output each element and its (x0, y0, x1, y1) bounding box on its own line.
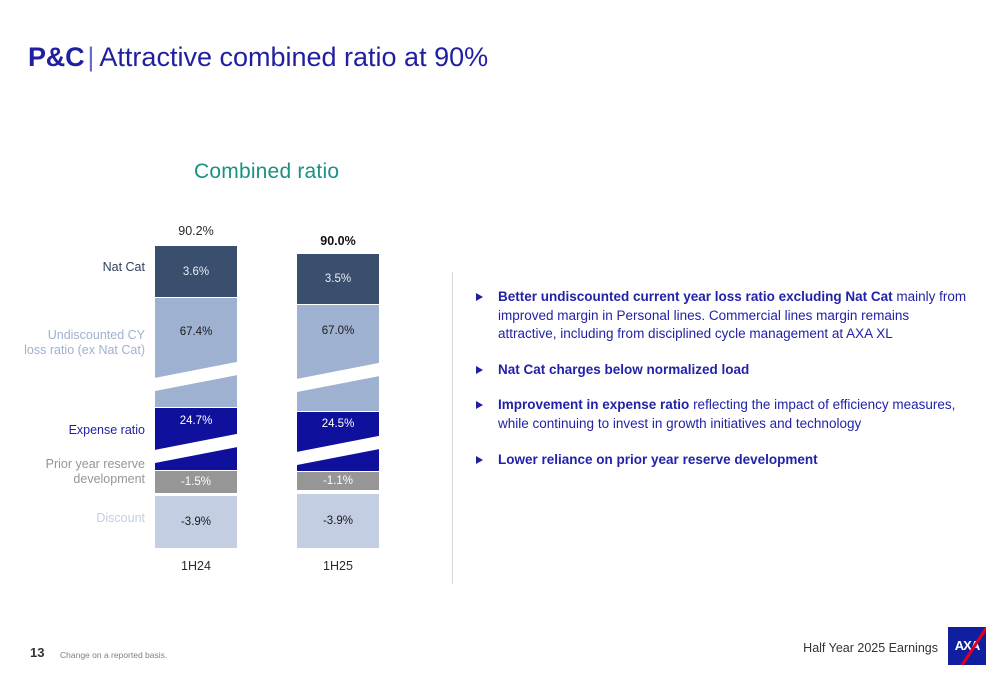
segment-undiscounted-1h25: 67.0% (297, 305, 379, 411)
bullet-bold: Lower reliance on prior year reserve dev… (498, 452, 818, 467)
segment-prior-year-1h25: -1.1% (297, 472, 379, 490)
bullet-text: Lower reliance on prior year reserve dev… (498, 451, 970, 470)
total-label-1h25: 90.0% (298, 234, 378, 248)
axis-break-slash (297, 434, 379, 466)
series-label-prior-year: Prior year reserve development (0, 457, 145, 487)
segment-nat-cat-1h24: 3.6% (155, 246, 237, 297)
category-label-1h24: 1H24 (156, 559, 236, 573)
axis-break-slash (155, 360, 237, 392)
series-label-discount: Discount (0, 511, 145, 526)
triangle-bullet-icon (476, 401, 483, 409)
bar-1h25: 3.5% 67.0% 24.5% -1.1% -3.9% (297, 254, 379, 548)
segment-discount-1h25: -3.9% (297, 494, 379, 548)
list-item: Better undiscounted current year loss ra… (470, 288, 970, 344)
axis-break-slash (297, 361, 379, 393)
series-label-undiscounted: Undiscounted CY loss ratio (ex Nat Cat) (0, 328, 145, 358)
triangle-bullet-icon (476, 456, 483, 464)
segment-expense-ratio-1h25: 24.5% (297, 412, 379, 471)
slide: P&C|Attractive combined ratio at 90% Com… (0, 0, 1000, 685)
total-label-1h24: 90.2% (156, 224, 236, 238)
triangle-bullet-icon (476, 366, 483, 374)
footnote: Change on a reported basis. (60, 650, 167, 660)
segment-undiscounted-1h24: 67.4% (155, 298, 237, 407)
segment-discount-1h24: -3.9% (155, 496, 237, 548)
axa-logo: AXA (948, 627, 986, 665)
bullet-text: Nat Cat charges below normalized load (498, 361, 970, 380)
series-label-expense-ratio: Expense ratio (0, 423, 145, 438)
bullet-list: Better undiscounted current year loss ra… (470, 288, 970, 483)
bullet-text: Better undiscounted current year loss ra… (498, 288, 970, 344)
bar-1h24: 3.6% 67.4% 24.7% -1.5% -3.9% (155, 246, 237, 548)
list-item: Lower reliance on prior year reserve dev… (470, 451, 970, 470)
segment-nat-cat-1h25: 3.5% (297, 254, 379, 304)
triangle-bullet-icon (476, 293, 483, 301)
axis-break-slash (155, 432, 237, 464)
list-item: Improvement in expense ratio reflecting … (470, 396, 970, 433)
combined-ratio-chart: Nat Cat Undiscounted CY loss ratio (ex N… (0, 0, 452, 600)
bullet-bold: Nat Cat charges below normalized load (498, 362, 749, 377)
bullet-text: Improvement in expense ratio reflecting … (498, 396, 970, 433)
bullet-bold: Better undiscounted current year loss ra… (498, 289, 893, 304)
bullet-bold: Improvement in expense ratio (498, 397, 689, 412)
vertical-divider (452, 272, 453, 584)
category-label-1h25: 1H25 (298, 559, 378, 573)
axa-logo-text: AXA (948, 638, 986, 653)
segment-prior-year-1h24: -1.5% (155, 471, 237, 493)
list-item: Nat Cat charges below normalized load (470, 361, 970, 380)
footer-title: Half Year 2025 Earnings (803, 641, 938, 655)
series-label-nat-cat: Nat Cat (0, 260, 145, 275)
segment-expense-ratio-1h24: 24.7% (155, 408, 237, 470)
page-number: 13 (30, 645, 44, 660)
